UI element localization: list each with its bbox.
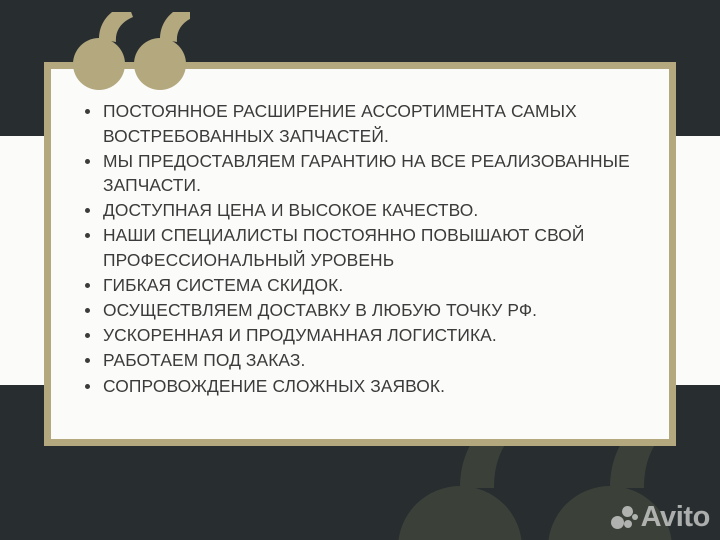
slide-canvas: Постоянное расширение ассортимента самых…	[0, 0, 720, 540]
quote-card: Постоянное расширение ассортимента самых…	[44, 62, 676, 446]
quote-mark-icon	[72, 12, 190, 92]
list-item: Наши специалисты постоянно повышают свой…	[77, 223, 643, 272]
quote-card-inner: Постоянное расширение ассортимента самых…	[51, 69, 669, 439]
avito-watermark: Avito	[611, 503, 710, 532]
benefits-list: Постоянное расширение ассортимента самых…	[77, 99, 643, 399]
list-item: Доступная цена и высокое качество.	[77, 198, 643, 223]
list-item: Работаем под заказ.	[77, 348, 643, 373]
avito-logo-icon	[611, 505, 637, 531]
list-item: Сопровождение сложных заявок.	[77, 374, 643, 399]
list-item: Постоянное расширение ассортимента самых…	[77, 99, 643, 148]
list-item: Гибкая система скидок.	[77, 273, 643, 298]
avito-wordmark: Avito	[641, 503, 710, 532]
list-item: Ускоренная и продуманная логистика.	[77, 323, 643, 348]
list-item: Осуществляем доставку в любую точку РФ.	[77, 298, 643, 323]
list-item: Мы предоставляем гарантию на все реализо…	[77, 149, 643, 198]
